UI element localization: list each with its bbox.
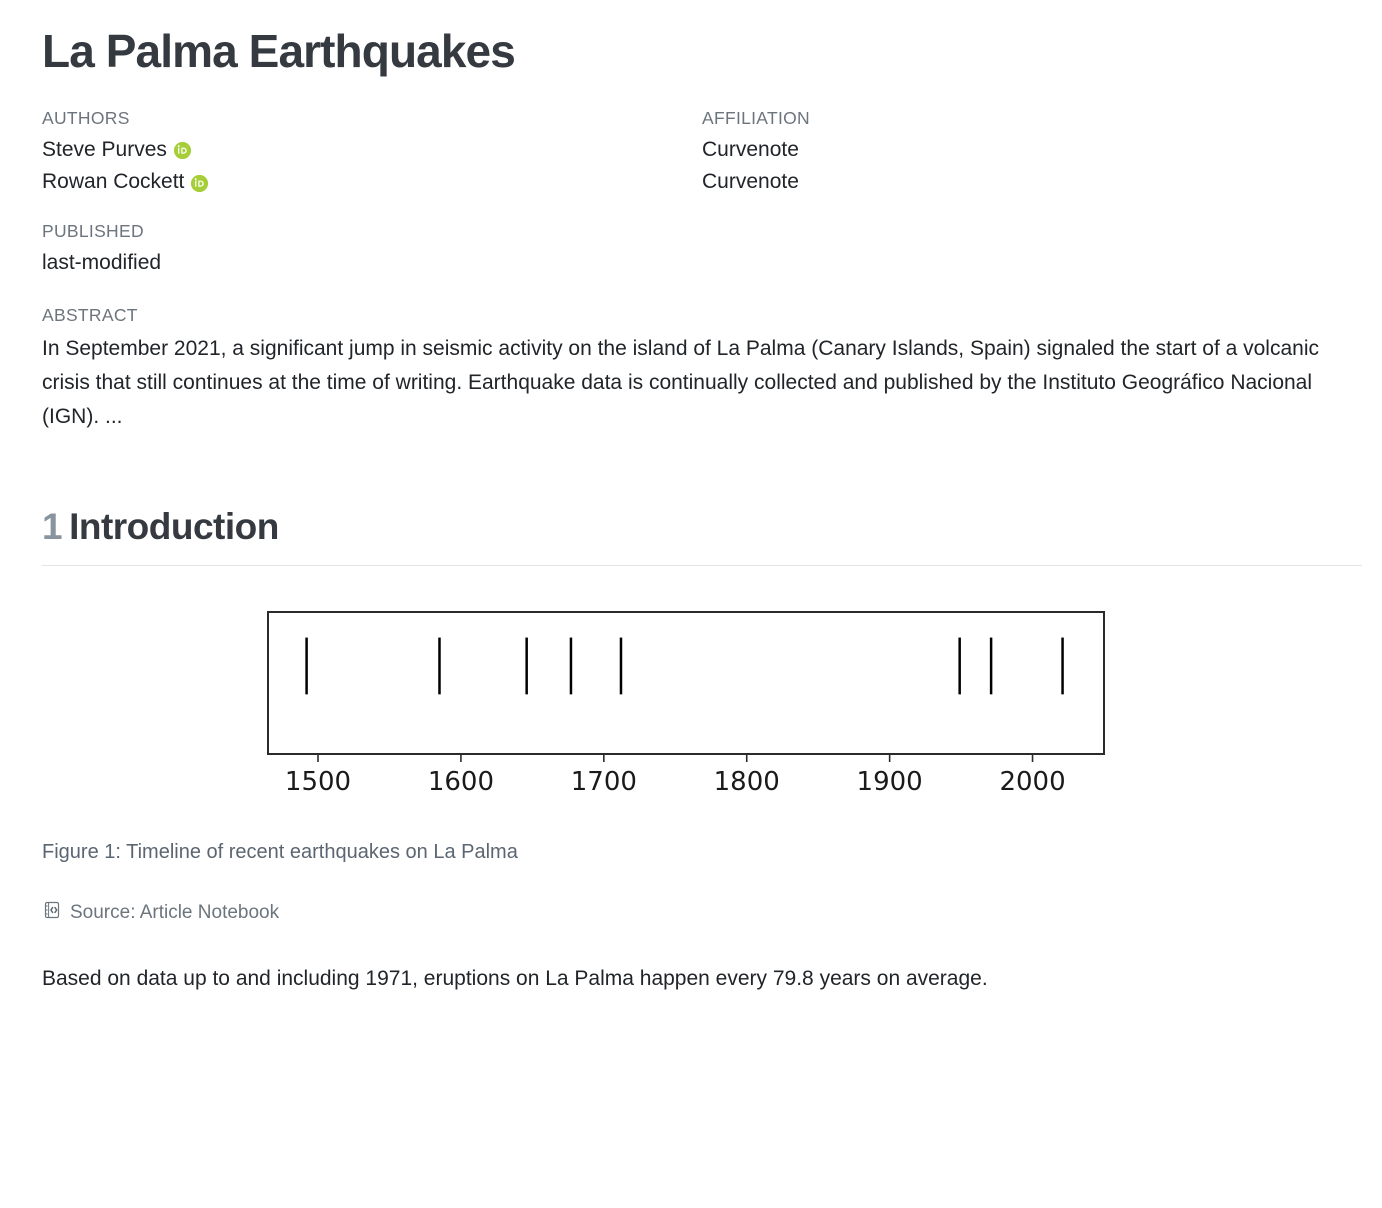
published-value: last-modified <box>42 248 1362 278</box>
abstract-block: ABSTRACT In September 2021, a significan… <box>42 305 1362 434</box>
x-tick-label: 1600 <box>428 767 494 797</box>
figure-caption: Figure 1: Timeline of recent earthquakes… <box>42 838 1362 866</box>
author-entry: Rowan Cockett <box>42 167 702 197</box>
figure-source-label: Source: Article Notebook <box>70 902 279 924</box>
abstract-label: ABSTRACT <box>42 305 1362 326</box>
published-label: PUBLISHED <box>42 221 1362 242</box>
orcid-id-icon[interactable] <box>174 142 191 159</box>
orcid-id-icon[interactable] <box>191 175 208 192</box>
affiliation-column: AFFILIATION Curvenote Curvenote <box>702 108 1362 200</box>
affiliation-label: AFFILIATION <box>702 108 1362 129</box>
figure-source-line[interactable]: Source: Article Notebook <box>42 900 1362 926</box>
x-tick-label: 1500 <box>285 767 351 797</box>
article-page: La Palma Earthquakes AUTHORS Steve Purve… <box>0 0 1382 996</box>
section-heading-introduction: 1Introduction <box>42 506 1362 566</box>
figure-plot-wrap: 150016001700180019002000 <box>42 604 1362 804</box>
authors-column: AUTHORS Steve Purves Rowan Cockett <box>42 108 702 200</box>
affiliation-value: Curvenote <box>702 167 1362 197</box>
figure-1: 150016001700180019002000 Figure 1: Timel… <box>42 604 1362 926</box>
x-axis-group: 150016001700180019002000 <box>285 754 1066 797</box>
x-tick-label: 2000 <box>999 767 1065 797</box>
notebook-code-icon <box>42 900 62 926</box>
abstract-text: In September 2021, a significant jump in… <box>42 332 1342 434</box>
earthquake-timeline-rugplot: 150016001700180019002000 <box>262 604 1142 804</box>
section-title: Introduction <box>69 506 279 547</box>
x-tick-label: 1900 <box>857 767 923 797</box>
metadata-grid: AUTHORS Steve Purves Rowan Cockett <box>42 108 1362 200</box>
author-entry: Steve Purves <box>42 135 702 165</box>
x-tick-label: 1800 <box>714 767 780 797</box>
x-tick-label: 1700 <box>571 767 637 797</box>
body-paragraph: Based on data up to and including 1971, … <box>42 962 1312 996</box>
authors-label: AUTHORS <box>42 108 702 129</box>
page-title: La Palma Earthquakes <box>42 26 1362 78</box>
affiliation-value: Curvenote <box>702 135 1362 165</box>
published-block: PUBLISHED last-modified <box>42 221 1362 278</box>
section-number: 1 <box>42 506 62 547</box>
author-name: Rowan Cockett <box>42 167 184 197</box>
author-name: Steve Purves <box>42 135 167 165</box>
